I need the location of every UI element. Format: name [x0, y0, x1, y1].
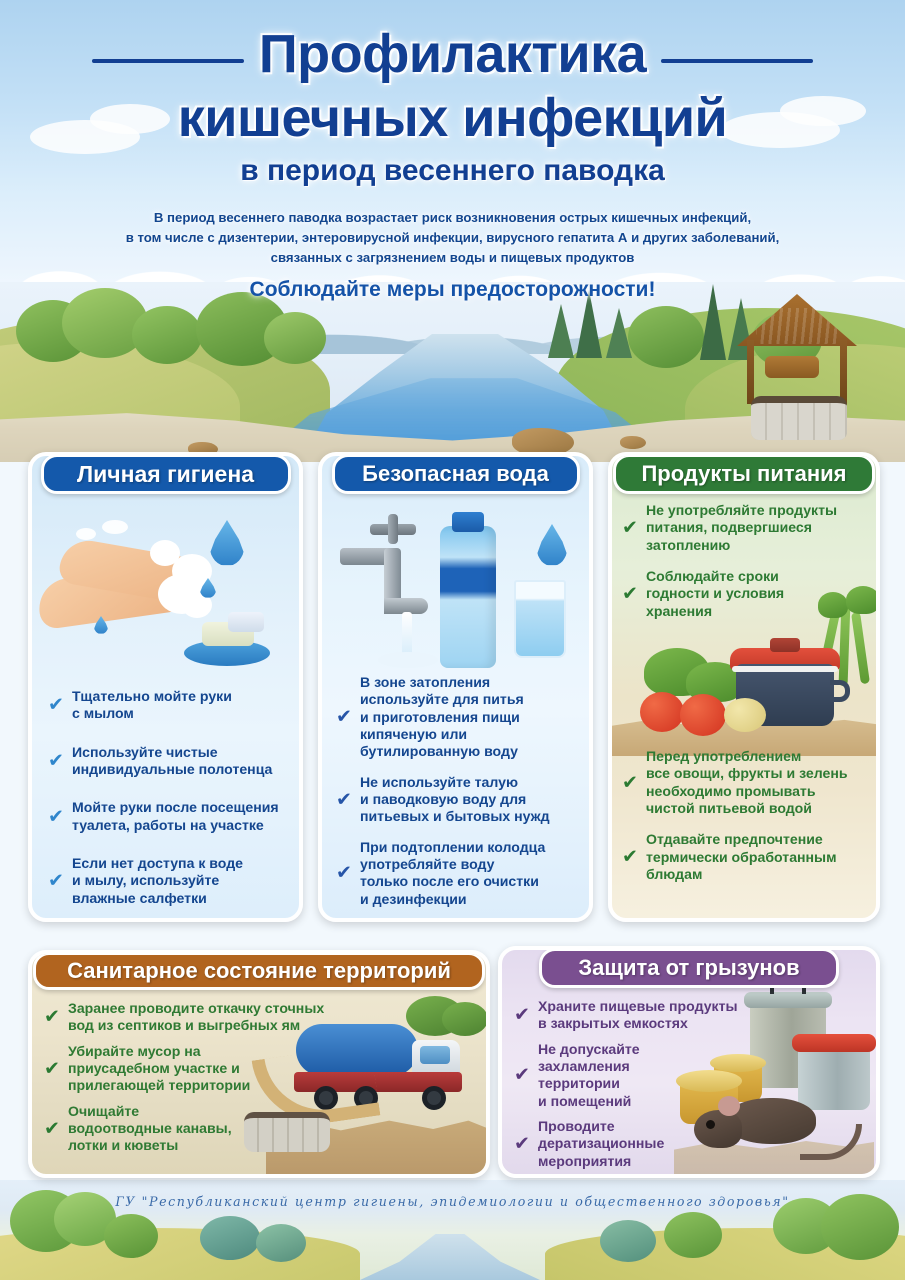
- footer-river: [360, 1234, 540, 1280]
- title-line2: кишечных инфекций: [0, 90, 905, 146]
- list-item-text: Не допускайте захламления территории и п…: [538, 1041, 640, 1109]
- card-heading-food-products: Продукты питания: [613, 454, 875, 494]
- title-rule-left: [92, 59, 244, 63]
- check-icon: ✔: [622, 848, 638, 867]
- check-icon: ✔: [44, 1119, 60, 1138]
- check-icon: ✔: [48, 871, 64, 890]
- list-item-text: Перед употреблением все овощи, фрукты и …: [646, 748, 848, 816]
- water-sources-illustration: [322, 502, 589, 680]
- food-illustration: [612, 636, 876, 756]
- footer-landscape-strip: ГУ "Республиканский центр гигиены, эпиде…: [0, 1180, 905, 1280]
- storage-bin-icon: [798, 1044, 870, 1110]
- check-icon: ✔: [44, 1059, 60, 1078]
- card-rodent-protection[interactable]: Защита от грызунов ✔Храните пищевые прод…: [498, 946, 880, 1178]
- list-item: ✔Проводите дератизационные мероприятия: [514, 1118, 754, 1170]
- title-rule-right: [661, 59, 813, 63]
- list-item-text: Тщательно мойте руки с мылом: [72, 688, 232, 721]
- card-heading-sanitary-territory: Санитарное состояние территорий: [33, 952, 485, 990]
- tomato-icon: [680, 694, 726, 736]
- check-icon: ✔: [622, 773, 638, 792]
- title-line3: в период весеннего паводка: [0, 154, 905, 188]
- list-item-text: Не употребляйте продукты питания, подвер…: [646, 502, 837, 553]
- pot-rim: [732, 666, 838, 672]
- tree-icon: [256, 1224, 306, 1262]
- tree-icon: [664, 1212, 722, 1258]
- soap-bar-icon: [228, 612, 264, 632]
- bottle-cap: [452, 512, 484, 532]
- pot-knob: [770, 638, 800, 652]
- poster-title-block: Профилактика кишечных инфекций в период …: [0, 26, 905, 188]
- potato-icon: [724, 698, 766, 732]
- water-drop-icon: [537, 524, 567, 566]
- check-icon: ✔: [48, 751, 64, 770]
- list-item-text: Мойте руки после посещения туалета, рабо…: [72, 799, 279, 832]
- bush-icon: [442, 1002, 488, 1036]
- list-item-text: Проводите дератизационные мероприятия: [538, 1118, 664, 1169]
- list-item: ✔В зоне затопления используйте для питья…: [336, 674, 592, 761]
- landscape-illustration: [0, 282, 905, 462]
- bullet-list-safe-water: ✔В зоне затопления используйте для питья…: [336, 674, 592, 921]
- list-item: ✔Мойте руки после посещения туалета, раб…: [48, 799, 298, 834]
- check-icon: ✔: [622, 518, 638, 537]
- truck-window: [420, 1046, 450, 1064]
- well-drum: [765, 356, 819, 378]
- card-heading-safe-water: Безопасная вода: [332, 454, 580, 494]
- check-icon: ✔: [336, 708, 352, 727]
- well-post: [840, 340, 847, 404]
- water-bottle-icon: [440, 526, 496, 668]
- handwashing-illustration: [32, 500, 299, 690]
- foam-bubble: [102, 520, 128, 534]
- list-item-text: Соблюдайте сроки годности и условия хран…: [646, 568, 784, 619]
- list-item: ✔Очищайте водоотводные канавы, лотки и к…: [44, 1103, 344, 1155]
- greens-icon: [846, 586, 880, 614]
- list-item: ✔Не используйте талую и паводковую воду …: [336, 774, 592, 826]
- card-personal-hygiene[interactable]: Личная гигиена ✔Тщательно мойте руки с м…: [28, 452, 303, 922]
- title-line1-row: Профилактика: [0, 26, 905, 90]
- check-icon: ✔: [336, 864, 352, 883]
- well-post: [747, 340, 754, 404]
- card-safe-water[interactable]: Безопасная вода ✔В зоне затопления испол…: [318, 452, 593, 922]
- water-drop-icon: [210, 520, 244, 566]
- tree-icon: [600, 1220, 656, 1262]
- list-item: ✔Отдавайте предпочтение термически обраб…: [622, 831, 880, 883]
- list-item: ✔Используйте чистые индивидуальные полот…: [48, 744, 298, 779]
- water-splash: [378, 652, 438, 668]
- list-item: ✔Храните пищевые продукты в закрытых емк…: [514, 998, 754, 1033]
- list-item-text: Очищайте водоотводные канавы, лотки и кю…: [68, 1103, 232, 1154]
- check-icon: ✔: [48, 807, 64, 826]
- water-well-illustration: [731, 288, 863, 438]
- tree-icon: [132, 306, 202, 364]
- list-item: ✔При подтоплении колодца употребляйте во…: [336, 839, 592, 908]
- tree-icon: [628, 306, 704, 368]
- card-heading-rodent-protection: Защита от грызунов: [539, 948, 839, 988]
- storage-bin-lid: [792, 1034, 876, 1052]
- check-icon: ✔: [336, 790, 352, 809]
- check-icon: ✔: [48, 696, 64, 715]
- list-item: ✔Убирайте мусор на приусадебном участке …: [44, 1043, 344, 1095]
- list-item-text: Если нет доступа к воде и мылу, использу…: [72, 855, 243, 906]
- list-item: ✔Тщательно мойте руки с мылом: [48, 688, 298, 723]
- intro-line2: в том числе с дизентерии, энтеровирусной…: [0, 228, 905, 248]
- bullet-list-food-bottom: ✔Перед употреблением все овощи, фрукты и…: [622, 748, 880, 897]
- pine-tree-icon: [548, 304, 574, 358]
- check-icon: ✔: [44, 1008, 60, 1027]
- intro-call-to-action: Соблюдайте меры предосторожности!: [0, 274, 905, 306]
- list-item-text: При подтоплении колодца употребляйте вод…: [360, 839, 545, 907]
- tree-icon: [104, 1214, 158, 1258]
- tomato-icon: [640, 692, 684, 732]
- bullet-list-sanitary: ✔Заранее проводите откачку сточных вод и…: [44, 1000, 344, 1163]
- rock-shape: [620, 436, 646, 449]
- intro-line3: связанных с загрязнением воды и пищевых …: [0, 248, 905, 268]
- list-item-text: Отдавайте предпочтение термически обрабо…: [646, 831, 837, 882]
- storage-bin-lid: [744, 992, 832, 1008]
- check-icon: ✔: [514, 1066, 530, 1085]
- list-item-text: Убирайте мусор на приусадебном участке и…: [68, 1043, 250, 1094]
- card-sanitary-territory[interactable]: Санитарное состояние территорий ✔Заранее…: [28, 950, 490, 1178]
- check-icon: ✔: [514, 1134, 530, 1153]
- list-item-text: Используйте чистые индивидуальные полоте…: [72, 744, 272, 777]
- check-icon: ✔: [622, 584, 638, 603]
- check-icon: ✔: [514, 1006, 530, 1025]
- faucet-handle: [388, 514, 398, 544]
- list-item-text: Храните пищевые продукты в закрытых емко…: [538, 998, 738, 1031]
- water-glass-icon: [514, 580, 566, 658]
- pot-handle: [830, 680, 850, 702]
- list-item: ✔Не употребляйте продукты питания, подве…: [622, 502, 880, 554]
- list-item-text: В зоне затопления используйте для питья …: [360, 674, 524, 759]
- list-item: ✔Не допускайте захламления территории и …: [514, 1041, 754, 1110]
- truck-wheel: [422, 1086, 446, 1110]
- intro-block: В период весеннего паводка возрастает ри…: [0, 208, 905, 306]
- bullet-list-rodent: ✔Храните пищевые продукты в закрытых емк…: [514, 998, 754, 1178]
- tree-icon: [200, 1216, 260, 1260]
- card-food-products[interactable]: Продукты питания ✔Не употребляйте продук…: [608, 452, 880, 922]
- card-heading-personal-hygiene: Личная гигиена: [41, 454, 291, 494]
- poster-root: Профилактика кишечных инфекций в период …: [0, 0, 905, 1280]
- list-item: ✔Заранее проводите откачку сточных вод и…: [44, 1000, 344, 1035]
- list-item-text: Заранее проводите откачку сточных вод из…: [68, 1000, 324, 1033]
- tree-icon: [264, 312, 326, 364]
- bullet-list-personal-hygiene: ✔Тщательно мойте руки с мылом ✔Используй…: [48, 688, 298, 922]
- foam-bubble: [76, 528, 96, 540]
- greens-icon: [818, 592, 848, 618]
- intro-line1: В период весеннего паводка возрастает ри…: [0, 208, 905, 228]
- well-stone-base: [751, 396, 847, 440]
- list-item-text: Не используйте талую и паводковую воду д…: [360, 774, 550, 825]
- list-item: ✔Если нет доступа к воде и мылу, использ…: [48, 855, 298, 907]
- footer-credit: ГУ "Республиканский центр гигиены, эпиде…: [0, 1194, 905, 1209]
- list-item: ✔Перед употреблением все овощи, фрукты и…: [622, 748, 880, 817]
- title-line1: Профилактика: [245, 26, 660, 82]
